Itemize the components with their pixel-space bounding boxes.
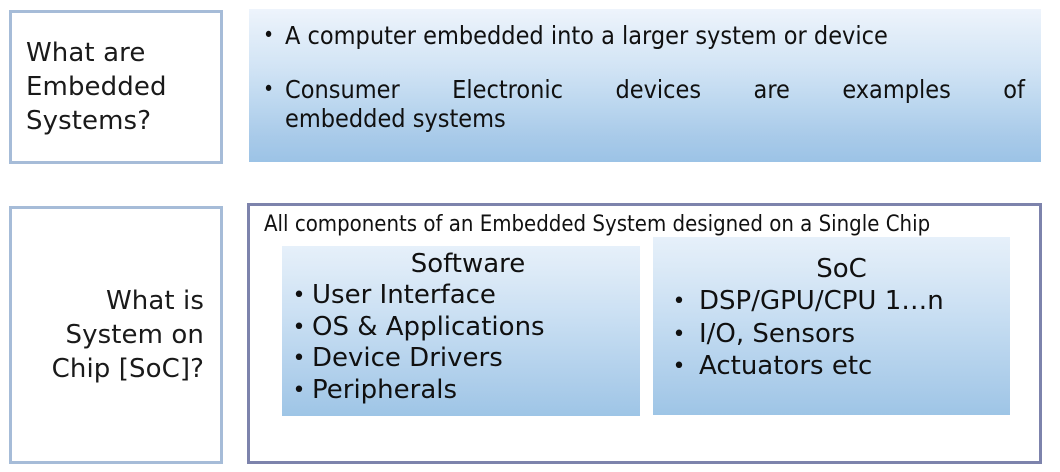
bullet-icon: • [263, 75, 285, 103]
soc-inner-panels: Software • User Interface • OS & Applica… [260, 237, 1029, 421]
justified-word: Consumer [285, 75, 400, 105]
panel-software-item: • OS & Applications [286, 313, 640, 343]
panel-software-item: • User Interface [286, 281, 640, 311]
panel-soc-item: • Actuators etc [659, 352, 1010, 382]
panel-software-item: • Device Drivers [286, 344, 640, 374]
panel-soc-item: • DSP/GPU/CPU 1…n [659, 287, 1010, 317]
answer-bullet-text-2-line-1: Consumer Electronic devices are examples… [285, 75, 1025, 105]
question-box-embedded-systems: What are Embedded Systems? [9, 10, 223, 164]
answer-bullet-text-2: Consumer Electronic devices are examples… [285, 75, 1025, 134]
justified-word: are [754, 75, 790, 105]
bullet-icon: • [659, 287, 699, 317]
slide-canvas: What are Embedded Systems? • A computer … [0, 0, 1060, 472]
bullet-icon: • [286, 376, 312, 406]
panel-soc: SoC • DSP/GPU/CPU 1…n • I/O, Sensors • A… [653, 237, 1010, 415]
answer-bullet-text-2-line-2: embedded systems [285, 104, 506, 133]
panel-software-item-label: User Interface [312, 281, 640, 310]
question-text-system-on-chip: What is System on Chip [SoC]? [12, 284, 220, 387]
question-text-embedded-systems: What are Embedded Systems? [12, 36, 220, 139]
panel-software-item: • Peripherals [286, 376, 640, 406]
answer-panel-embedded-systems: • A computer embedded into a larger syst… [249, 9, 1041, 162]
panel-soc-item-label: Actuators etc [699, 352, 1010, 381]
bullet-icon: • [286, 344, 312, 374]
justified-word: devices [615, 75, 701, 105]
panel-software: Software • User Interface • OS & Applica… [282, 246, 640, 416]
bullet-icon: • [286, 281, 312, 311]
panel-software-item-label: Device Drivers [312, 344, 640, 373]
bullet-icon: • [263, 21, 285, 49]
question-box-system-on-chip: What is System on Chip [SoC]? [9, 206, 223, 464]
bullet-icon: • [659, 352, 699, 382]
justified-word: Electronic [452, 75, 563, 105]
panel-soc-item-label: I/O, Sensors [699, 320, 1010, 349]
bullet-icon: • [659, 320, 699, 350]
justified-word: examples [842, 75, 951, 105]
panel-software-item-label: OS & Applications [312, 313, 640, 342]
soc-lead-text: All components of an Embedded System des… [260, 212, 1029, 237]
bullet-icon: • [286, 313, 312, 343]
justified-word: of [1003, 75, 1025, 105]
answer-bullet-text-1: A computer embedded into a larger system… [285, 21, 1025, 51]
answer-panel-system-on-chip: All components of an Embedded System des… [247, 203, 1042, 464]
panel-soc-item: • I/O, Sensors [659, 320, 1010, 350]
answer-bullet-row-1: • A computer embedded into a larger syst… [263, 21, 1025, 51]
panel-soc-item-label: DSP/GPU/CPU 1…n [699, 287, 1010, 316]
answer-bullet-row-2: • Consumer Electronic devices are exampl… [263, 75, 1025, 134]
panel-software-title: Software [286, 250, 640, 279]
panel-software-item-label: Peripherals [312, 376, 640, 405]
panel-soc-title: SoC [659, 255, 1010, 284]
